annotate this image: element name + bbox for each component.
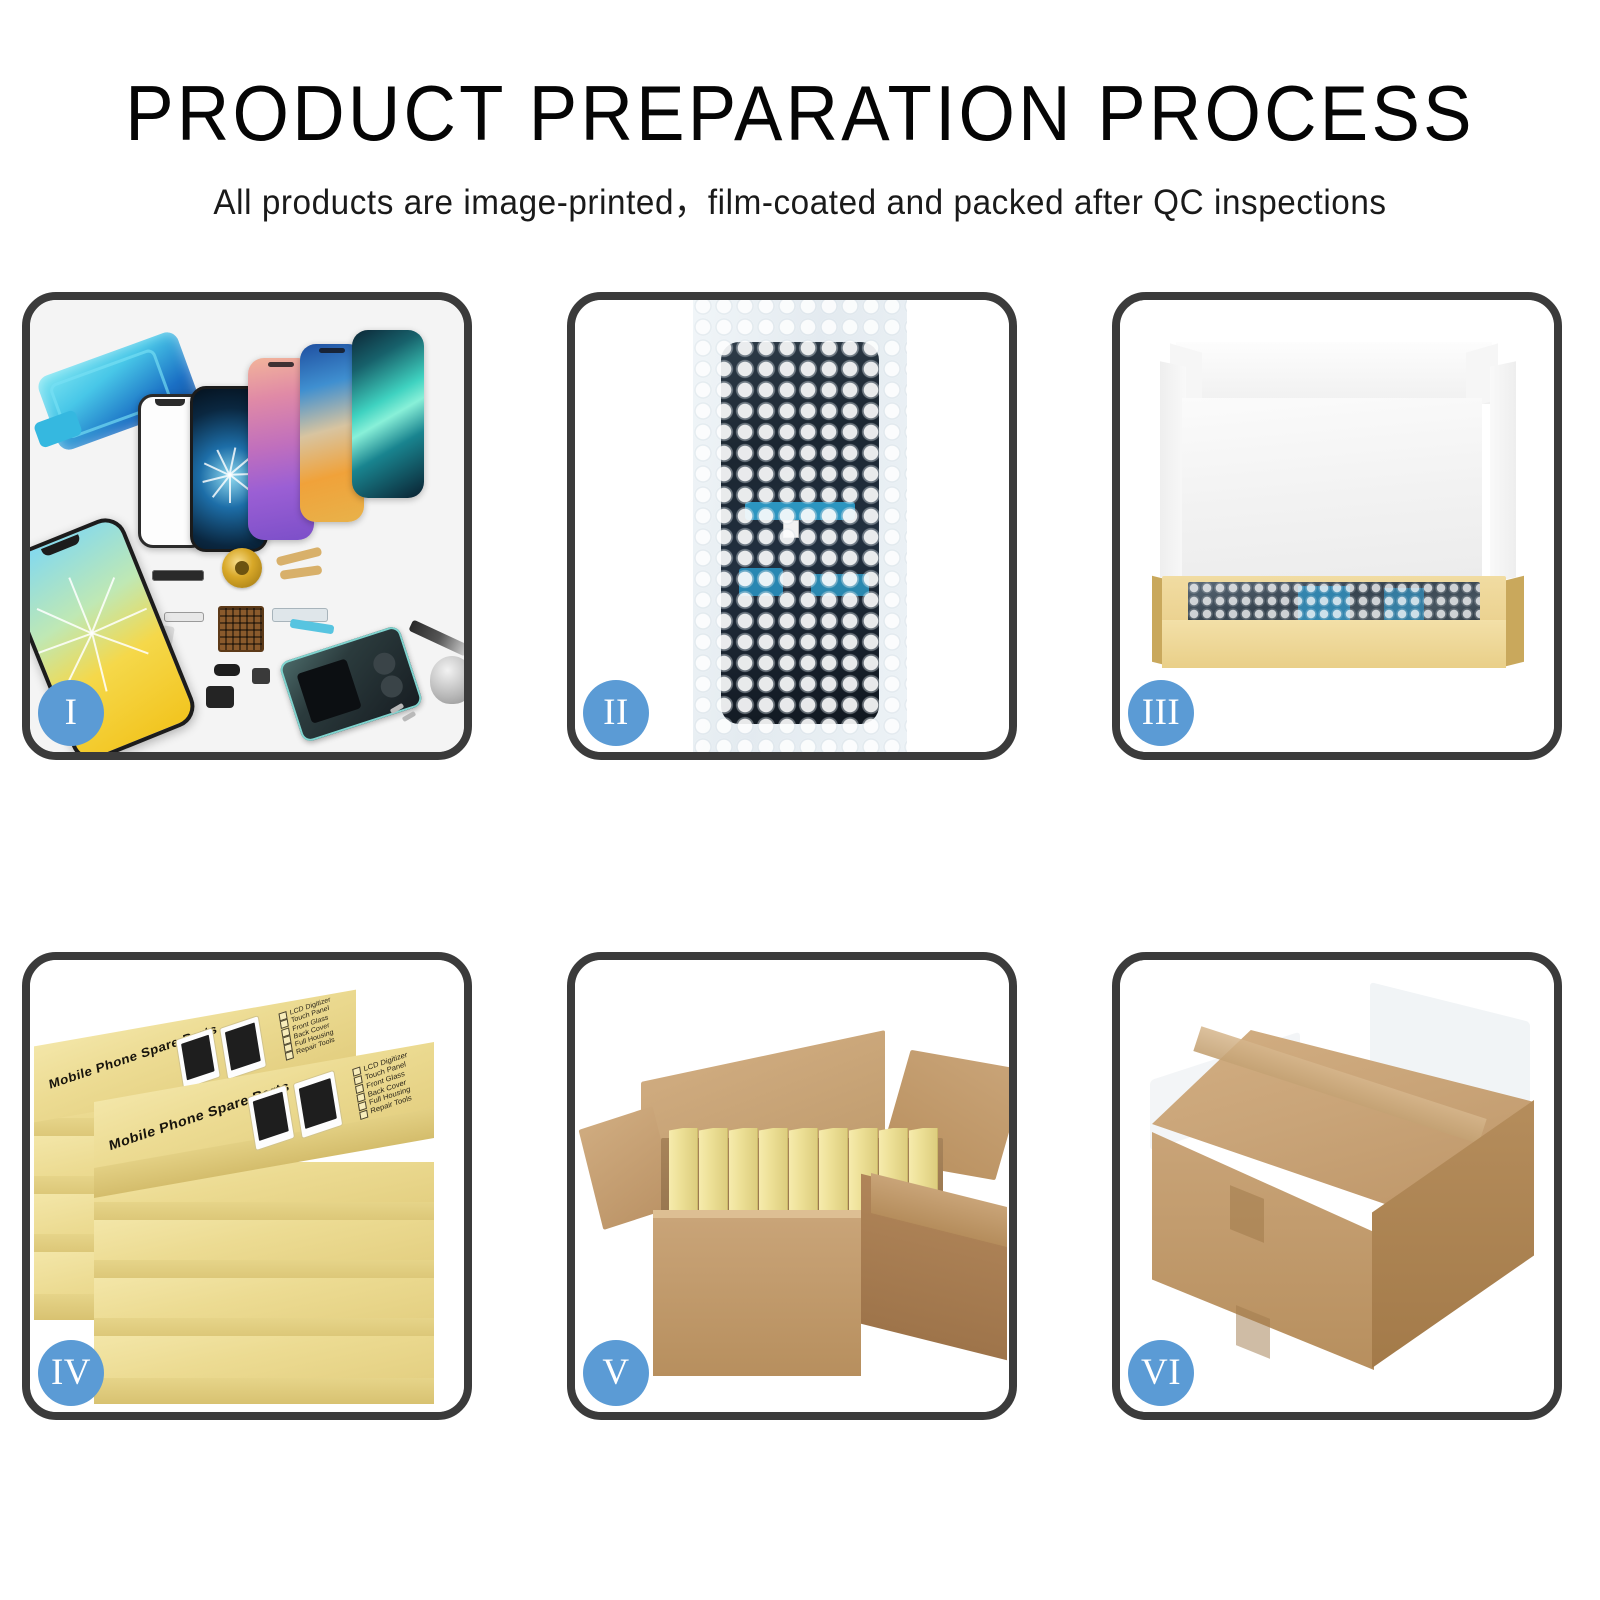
open-carton-scene — [575, 960, 1009, 1412]
back-housing-part — [278, 625, 424, 744]
screen-fan-group — [138, 322, 464, 540]
step-image-5 — [575, 960, 1009, 1412]
mailer-tray-front — [1162, 620, 1506, 668]
stacked-boxes-scene: Mobile Phone Spare Parts LCD DigitizerTo… — [30, 960, 464, 1412]
mailer-lid-inner — [1182, 398, 1482, 578]
retail-box — [699, 1128, 727, 1220]
sealed-carton-scene — [1120, 960, 1554, 1412]
bubble-highlight-layer — [693, 300, 907, 752]
process-step-grid: I II — [22, 292, 1578, 1420]
bubble-wrap-scene — [575, 300, 1009, 752]
cleaning-brush-part — [430, 656, 464, 704]
step-panel-5: V — [567, 952, 1017, 1420]
step-image-3 — [1120, 300, 1554, 752]
bubble-wrap-bag — [693, 300, 907, 752]
flex-cable-part — [290, 619, 335, 635]
notch-cutout — [319, 348, 345, 353]
step-image-2 — [575, 300, 1009, 752]
step-image-6 — [1120, 960, 1554, 1412]
camera-module-part — [214, 664, 240, 676]
step-panel-1: I — [22, 292, 472, 760]
teal-screen-phone — [352, 330, 424, 498]
step-panel-2: II — [567, 292, 1017, 760]
retail-box — [94, 1336, 434, 1394]
step-panel-6: VI — [1112, 952, 1562, 1420]
wireless-charging-coil-part — [222, 548, 262, 588]
phone-parts-scene — [30, 300, 464, 752]
flex-cable-part — [280, 565, 323, 580]
retail-box — [94, 1278, 434, 1334]
step-panel-3: III — [1112, 292, 1562, 760]
mailer-lid-back — [1176, 342, 1492, 404]
open-mailer-scene — [1120, 300, 1554, 752]
flex-cable-part — [276, 547, 323, 567]
retail-box — [759, 1128, 787, 1220]
retail-box — [94, 1220, 434, 1276]
step-panel-4: Mobile Phone Spare Parts LCD DigitizerTo… — [22, 952, 472, 1420]
camera-module-part — [252, 668, 270, 684]
camera-module-part — [206, 686, 234, 708]
ic-chip-part — [218, 606, 264, 652]
step-image-1 — [30, 300, 464, 752]
mailer-side-right — [1490, 361, 1516, 583]
screw-part — [402, 711, 417, 722]
earpiece-speaker-part — [152, 570, 204, 581]
step-image-4: Mobile Phone Spare Parts LCD DigitizerTo… — [30, 960, 464, 1412]
retail-box — [819, 1128, 847, 1220]
page-header: PRODUCT PREPARATION PROCESS All products… — [0, 0, 1600, 225]
page-title: PRODUCT PREPARATION PROCESS — [56, 74, 1544, 152]
retail-box — [789, 1128, 817, 1220]
page-subtitle: All products are image-printed，film-coat… — [40, 174, 1560, 225]
retail-box — [729, 1128, 757, 1220]
notch-cutout — [268, 362, 294, 367]
mailer-tray-right — [1506, 576, 1524, 666]
carton-body-front — [653, 1218, 861, 1376]
step-badge-1: I — [38, 680, 104, 746]
retail-box — [669, 1128, 697, 1220]
step-badge-6: VI — [1128, 1340, 1194, 1406]
step-badge-5: V — [583, 1340, 649, 1406]
blue-film-marking — [1384, 588, 1424, 622]
flex-cable-part — [164, 612, 204, 622]
repair-tool-part — [408, 619, 464, 656]
blue-film-marking — [1298, 586, 1350, 624]
step-badge-2: II — [583, 680, 649, 746]
step-badge-3: III — [1128, 680, 1194, 746]
step-badge-4: IV — [38, 1340, 104, 1406]
